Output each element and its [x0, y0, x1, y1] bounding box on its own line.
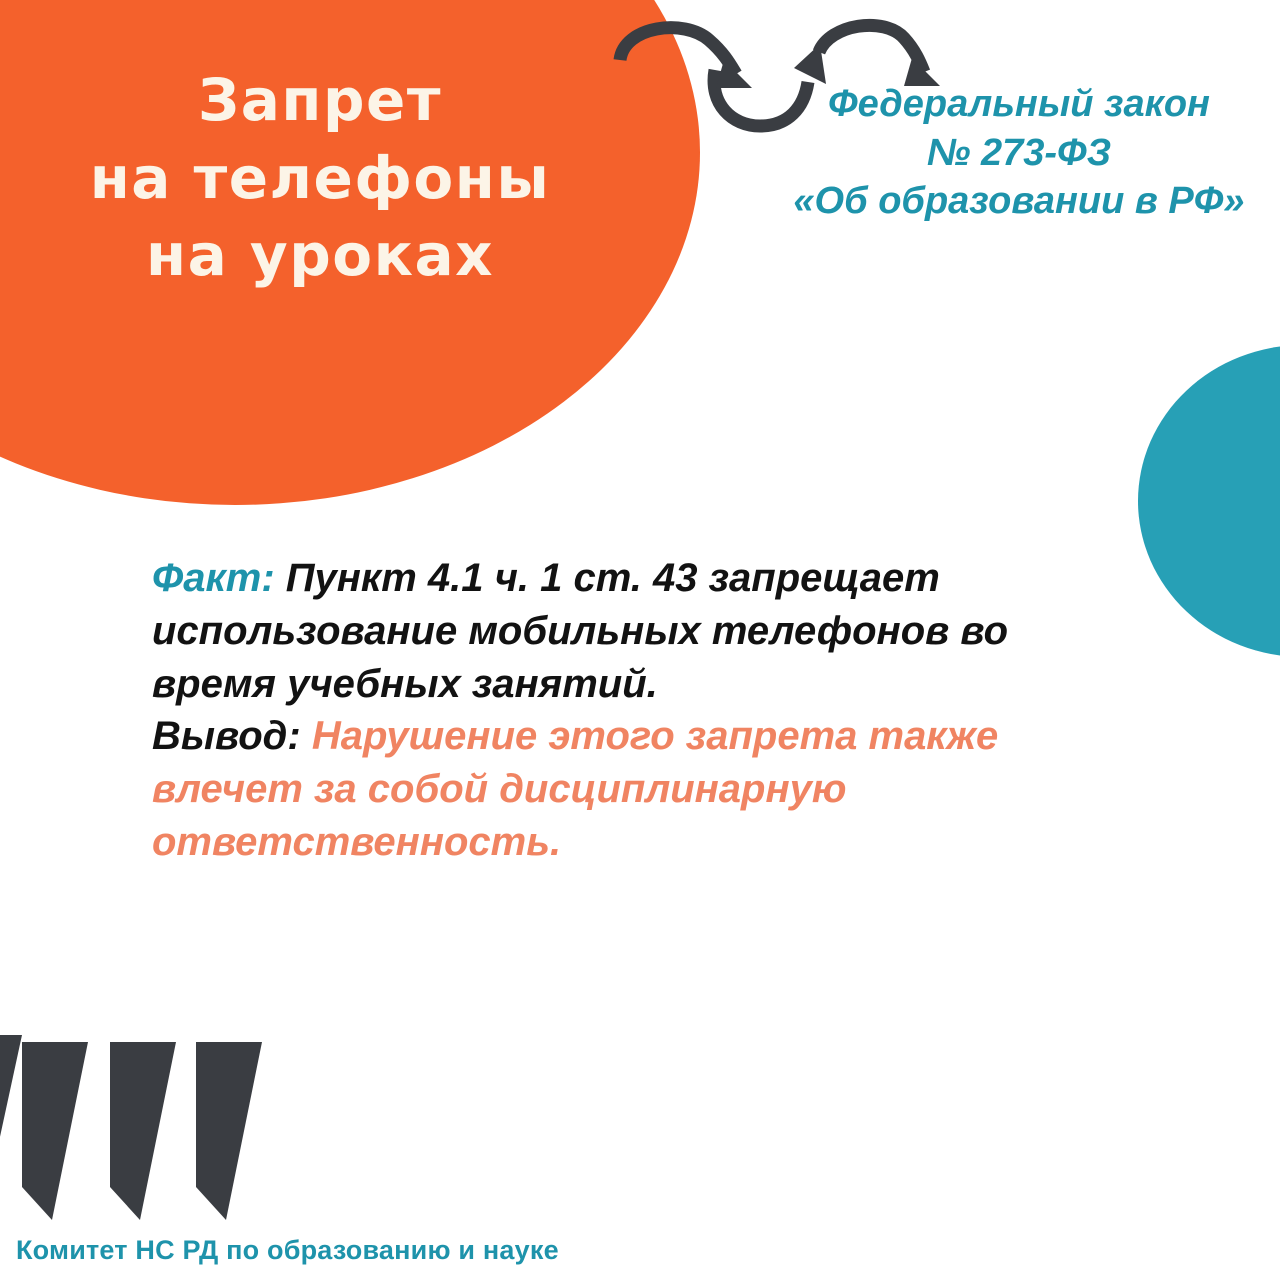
title-line-2: на телефоны — [0, 140, 640, 218]
law-heading-line-2: № 273-ФЗ — [760, 129, 1278, 178]
title-line-3: на уроках — [0, 217, 640, 295]
conclusion-label: Вывод: — [152, 714, 301, 758]
fact-label: Факт: — [152, 556, 275, 600]
fact-text: Пункт 4.1 ч. 1 ст. 43 запрещает использо… — [152, 556, 1008, 706]
law-heading: Федеральный закон № 273-ФЗ «Об образован… — [760, 80, 1278, 226]
teal-circle-shape — [1138, 345, 1280, 657]
law-heading-line-1: Федеральный закон — [760, 80, 1278, 129]
poster-canvas: Запрет на телефоны на уроках Федеральный… — [0, 0, 1280, 1280]
body-text: Факт: Пункт 4.1 ч. 1 ст. 43 запрещает ис… — [152, 552, 1072, 869]
fact-paragraph: Факт: Пункт 4.1 ч. 1 ст. 43 запрещает ис… — [152, 552, 1072, 710]
law-heading-line-3: «Об образовании в РФ» — [760, 177, 1278, 226]
footer-credit: Комитет НС РД по образованию и науке — [16, 1235, 559, 1266]
poster-title: Запрет на телефоны на уроках — [0, 62, 640, 295]
diagonal-stripes-icon — [0, 1035, 330, 1220]
conclusion-paragraph: Вывод: Нарушение этого запрета также вле… — [152, 710, 1072, 868]
title-line-1: Запрет — [0, 62, 640, 140]
